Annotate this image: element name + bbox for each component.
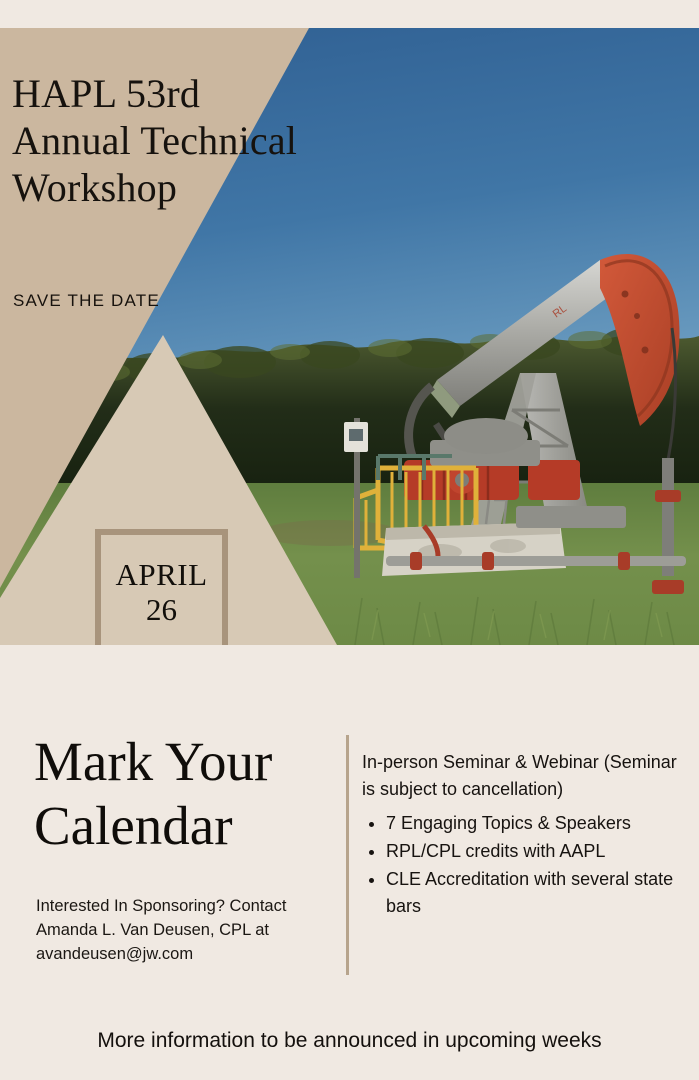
save-the-date-label: SAVE THE DATE bbox=[13, 291, 160, 311]
date-month: APRIL bbox=[115, 558, 207, 592]
list-item: 7 Engaging Topics & Speakers bbox=[386, 810, 699, 837]
highlights-list: 7 Engaging Topics & Speakers RPL/CPL cre… bbox=[362, 810, 699, 921]
list-item: RPL/CPL credits with AAPL bbox=[386, 838, 699, 865]
mark-your-calendar-title: Mark Your Calendar bbox=[34, 730, 334, 858]
footer-note: More information to be announced in upco… bbox=[0, 1029, 699, 1053]
hero-section: RL bbox=[0, 28, 699, 645]
date-day: 26 bbox=[146, 592, 177, 628]
date-badge: APRIL 26 bbox=[95, 529, 228, 645]
info-section: Mark Your Calendar Interested In Sponsor… bbox=[0, 645, 699, 1080]
list-item: CLE Accreditation with several state bar… bbox=[386, 866, 699, 920]
sponsor-contact-text: Interested In Sponsoring? Contact Amanda… bbox=[36, 894, 328, 966]
seminar-format-text: In-person Seminar & Webinar (Seminar is … bbox=[362, 749, 692, 803]
vertical-divider bbox=[346, 735, 349, 975]
poster: RL bbox=[0, 0, 699, 1080]
page-title: HAPL 53rd Annual Technical Workshop bbox=[12, 70, 312, 211]
